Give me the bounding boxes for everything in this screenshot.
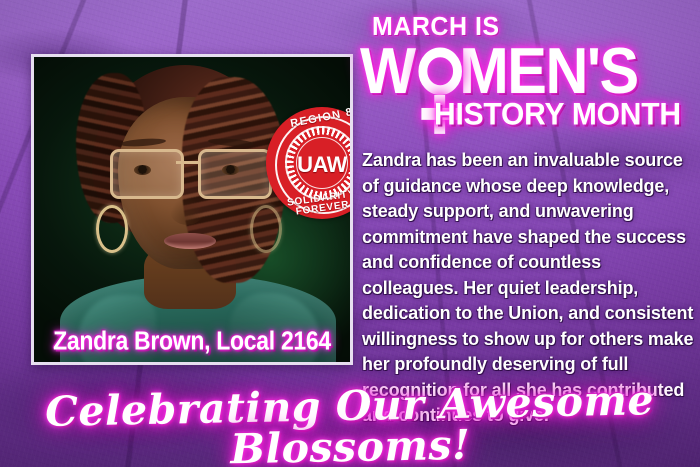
tagline-banner: Celebrating Our Awesome Blossoms! (0, 379, 700, 467)
portrait-photo: REGION 8 UAW 35 SOLIDARITY FOREVER Zandr… (34, 57, 350, 362)
portrait-photo-frame: REGION 8 UAW 35 SOLIDARITY FOREVER Zandr… (31, 54, 353, 365)
uaw-region-8-logo: REGION 8 UAW 35 SOLIDARITY FOREVER (266, 107, 353, 219)
eyeglass-bridge (176, 161, 200, 164)
honoree-name-caption: Zandra Brown, Local 2164 (34, 327, 350, 354)
logo-wordmark: UAW (266, 154, 353, 176)
nose (170, 197, 204, 225)
eyeglasses (108, 149, 268, 195)
womens-history-month-poster: REGION 8 UAW 35 SOLIDARITY FOREVER Zandr… (0, 0, 700, 467)
eye-left (134, 165, 151, 175)
hoop-earring-left (96, 205, 128, 253)
headline-line-womens: WOMEN'S (360, 41, 691, 101)
headline-womens-w: W (360, 35, 415, 107)
eye-right (222, 165, 239, 175)
headline-block: MARCH IS WOMEN'S HISTORY MONTH (360, 14, 694, 129)
mouth (164, 233, 216, 249)
headline-line-history-month: HISTORY MONTH (434, 99, 694, 131)
